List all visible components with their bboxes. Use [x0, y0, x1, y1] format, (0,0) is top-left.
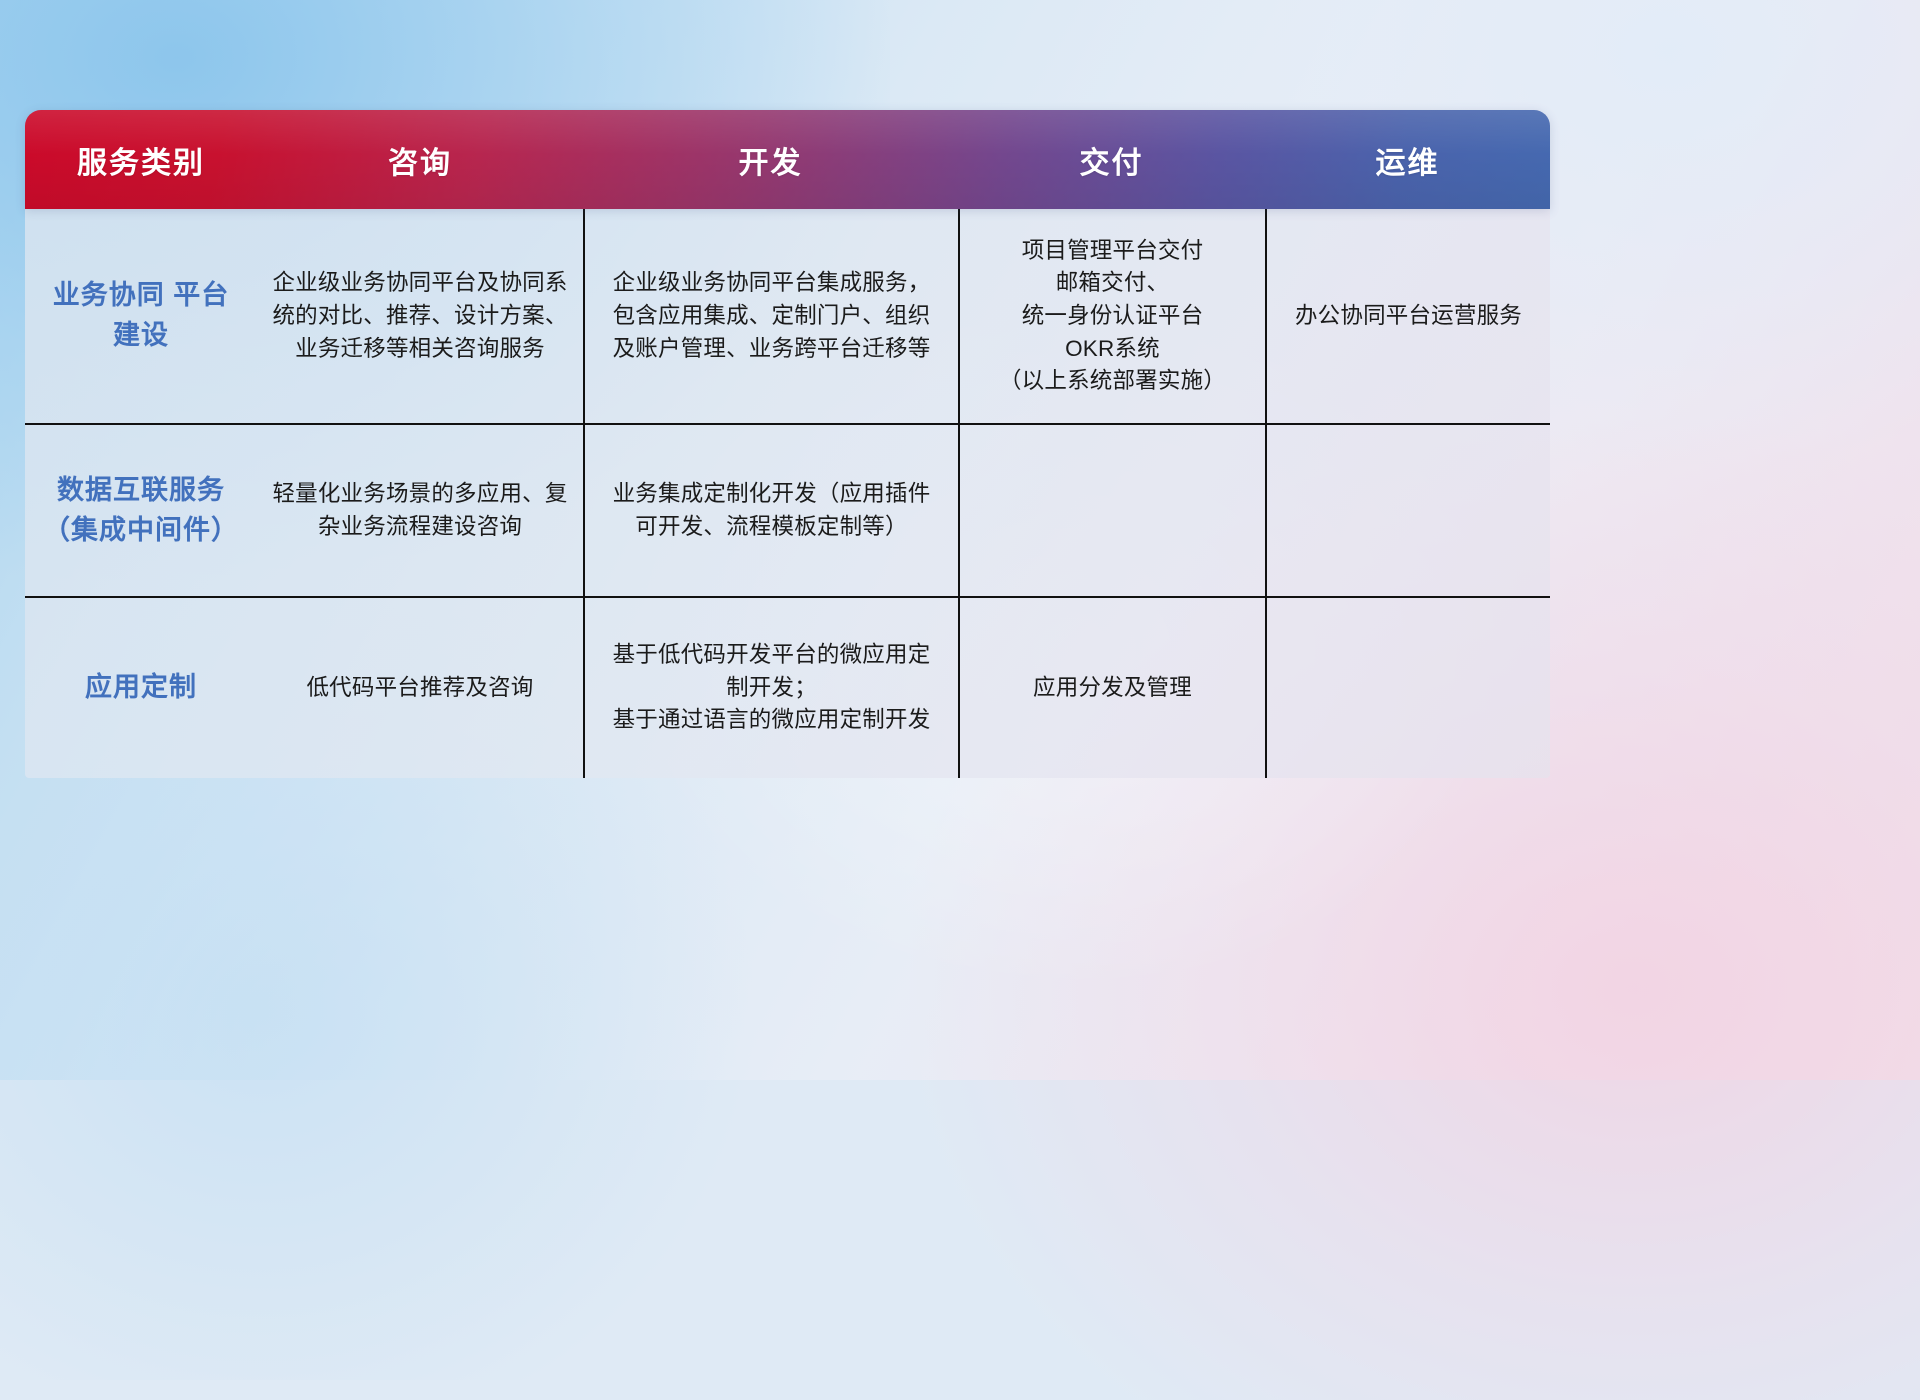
cell-text: 低代码平台推荐及咨询: [306, 672, 533, 705]
row-label-cell: 数据互联服务 （集成中间件）: [25, 425, 257, 596]
table-header-row: 服务类别 咨询 开发 交付 运维: [25, 110, 1550, 209]
table-body: 业务协同 平台建设 企业级业务协同平台及协同系 统的对比、推荐、设计方案、 业务…: [25, 209, 1550, 778]
cell-development: 企业级业务协同平台集成服务， 包含应用集成、定制门户、组织 及账户管理、业务跨平…: [583, 209, 958, 423]
cell-delivery: 应用分发及管理: [958, 598, 1265, 778]
cell-delivery: [958, 425, 1265, 596]
cell-text: 业务集成定制化开发（应用插件 可开发、流程模板定制等）: [613, 478, 931, 543]
cell-ops: [1265, 598, 1550, 778]
row-label-text: 数据互联服务 （集成中间件）: [39, 471, 243, 551]
table-row: 业务协同 平台建设 企业级业务协同平台及协同系 统的对比、推荐、设计方案、 业务…: [25, 209, 1550, 425]
cell-text: 项目管理平台交付 邮箱交付、 统一身份认证平台 OKR系统 （以上系统部署实施）: [999, 235, 1226, 398]
cell-consulting: 低代码平台推荐及咨询: [257, 598, 583, 778]
cell-development: 业务集成定制化开发（应用插件 可开发、流程模板定制等）: [583, 425, 958, 596]
table-header-cell-category: 服务类别: [25, 138, 257, 182]
cell-consulting: 企业级业务协同平台及协同系 统的对比、推荐、设计方案、 业务迁移等相关咨询服务: [257, 209, 583, 423]
service-matrix-table: 服务类别 咨询 开发 交付 运维 业务协同 平台建设 企业级业务协同平台及协同系…: [25, 110, 1550, 778]
cell-text: 企业级业务协同平台集成服务， 包含应用集成、定制门户、组织 及账户管理、业务跨平…: [613, 267, 931, 365]
table-header-cell-delivery: 交付: [958, 138, 1265, 182]
row-label-cell: 应用定制: [25, 598, 257, 778]
cell-ops: 办公协同平台运营服务: [1265, 209, 1550, 423]
table-header-cell-ops: 运维: [1265, 138, 1550, 182]
row-label-text: 应用定制: [85, 668, 197, 708]
cell-consulting: 轻量化业务场景的多应用、复 杂业务流程建设咨询: [257, 425, 583, 596]
table-row: 数据互联服务 （集成中间件） 轻量化业务场景的多应用、复 杂业务流程建设咨询 业…: [25, 425, 1550, 598]
cell-delivery: 项目管理平台交付 邮箱交付、 统一身份认证平台 OKR系统 （以上系统部署实施）: [958, 209, 1265, 423]
row-label-text: 业务协同 平台建设: [39, 276, 243, 356]
cell-text: 应用分发及管理: [1033, 672, 1192, 705]
table-row: 应用定制 低代码平台推荐及咨询 基于低代码开发平台的微应用定 制开发； 基于通过…: [25, 598, 1550, 778]
cell-text: 轻量化业务场景的多应用、复 杂业务流程建设咨询: [272, 478, 567, 543]
cell-ops: [1265, 425, 1550, 596]
cell-text: 办公协同平台运营服务: [1295, 300, 1522, 333]
table-header-cell-development: 开发: [583, 138, 958, 182]
table-header-cell-consulting: 咨询: [257, 138, 583, 182]
cell-development: 基于低代码开发平台的微应用定 制开发； 基于通过语言的微应用定制开发: [583, 598, 958, 778]
cell-text: 基于低代码开发平台的微应用定 制开发； 基于通过语言的微应用定制开发: [613, 639, 931, 737]
cell-text: 企业级业务协同平台及协同系 统的对比、推荐、设计方案、 业务迁移等相关咨询服务: [272, 267, 567, 365]
row-label-cell: 业务协同 平台建设: [25, 209, 257, 423]
